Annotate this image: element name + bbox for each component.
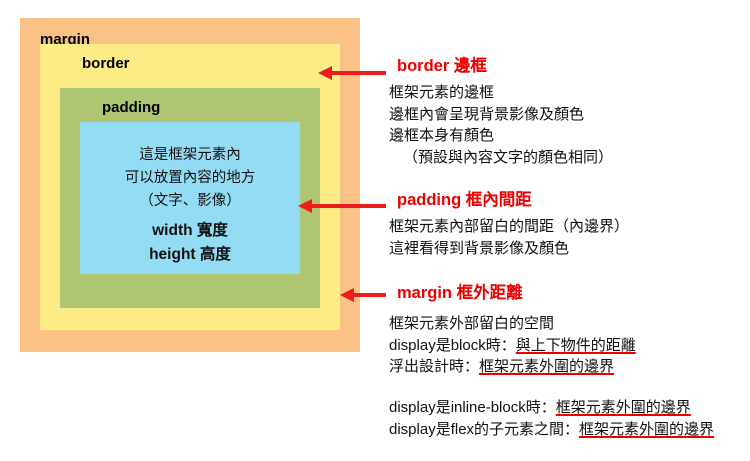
border-body-line-4: （預設與內容文字的顏色相同） <box>389 147 750 169</box>
margin-line-3-prefix: 浮出設計時： <box>389 358 479 375</box>
margin-body: 框架元素外部留白的空間 display是block時：與上下物件的距離 浮出設計… <box>389 313 750 378</box>
extra-line-2-prefix: display是flex的子元素之間： <box>389 421 579 438</box>
border-body-line-3: 邊框本身有顏色 <box>389 125 750 147</box>
margin-line-3-underlined: 框架元素外圍的邊界 <box>479 358 614 375</box>
content-spacer <box>80 213 300 219</box>
padding-body-line-1: 框架元素內部留白的間距（內邊界） <box>389 216 750 238</box>
content-layer: 這是框架元素內 可以放置內容的地方 （文字、影像） width 寬度 heigh… <box>80 122 300 274</box>
box-model-diagram: margin border padding 這是框架元素內 可以放置內容的地方 … <box>20 18 360 352</box>
border-body-line-1: 框架元素的邊框 <box>389 82 750 104</box>
content-height-line: height 高度 <box>149 246 231 263</box>
border-body: 框架元素的邊框 邊框內會呈現背景影像及顏色 邊框本身有顏色 （預設與內容文字的顏… <box>389 82 750 168</box>
explanation-column: border 邊框 框架元素的邊框 邊框內會呈現背景影像及顏色 邊框本身有顏色 … <box>389 0 750 461</box>
margin-body-line-3: 浮出設計時：框架元素外圍的邊界 <box>389 356 750 378</box>
padding-explanation: padding 框內間距 框架元素內部留白的間距（內邊界） 這裡看得到背景影像及… <box>389 190 750 259</box>
content-text-block: 這是框架元素內 可以放置內容的地方 （文字、影像） width 寬度 heigh… <box>80 144 300 267</box>
extra-line-2: display是flex的子元素之間：框架元素外圍的邊界 <box>389 419 750 441</box>
padding-body-line-2: 這裡看得到背景影像及顏色 <box>389 238 750 260</box>
extra-body: display是inline-block時：框架元素外圍的邊界 display是… <box>389 397 750 441</box>
content-width-line: width 寬度 <box>152 222 228 239</box>
display-modes-note: display是inline-block時：框架元素外圍的邊界 display是… <box>389 397 750 441</box>
border-label: border <box>82 56 130 71</box>
margin-line-2-prefix: display是block時： <box>389 337 516 354</box>
extra-line-1-underlined: 框架元素外圍的邊界 <box>556 399 691 416</box>
content-line-3: （文字、影像） <box>139 193 241 209</box>
padding-heading: padding 框內間距 <box>397 190 750 210</box>
margin-body-line-2: display是block時：與上下物件的距離 <box>389 335 750 357</box>
border-body-line-2: 邊框內會呈現背景影像及顏色 <box>389 104 750 126</box>
margin-body-line-1: 框架元素外部留白的空間 <box>389 313 750 335</box>
border-heading: border 邊框 <box>397 56 750 76</box>
margin-line-2-underlined: 與上下物件的距離 <box>516 337 636 354</box>
extra-line-1-prefix: display是inline-block時： <box>389 399 556 416</box>
padding-body: 框架元素內部留白的間距（內邊界） 這裡看得到背景影像及顏色 <box>389 216 750 259</box>
border-explanation: border 邊框 框架元素的邊框 邊框內會呈現背景影像及顏色 邊框本身有顏色 … <box>389 56 750 168</box>
padding-label: padding <box>102 100 160 115</box>
extra-line-2-underlined: 框架元素外圍的邊界 <box>579 421 714 438</box>
extra-line-1: display是inline-block時：框架元素外圍的邊界 <box>389 397 750 419</box>
margin-explanation: margin 框外距離 框架元素外部留白的空間 display是block時：與… <box>389 283 750 378</box>
content-line-1: 這是框架元素內 <box>139 147 241 163</box>
margin-heading: margin 框外距離 <box>397 283 750 303</box>
content-line-2: 可以放置內容的地方 <box>125 170 256 186</box>
